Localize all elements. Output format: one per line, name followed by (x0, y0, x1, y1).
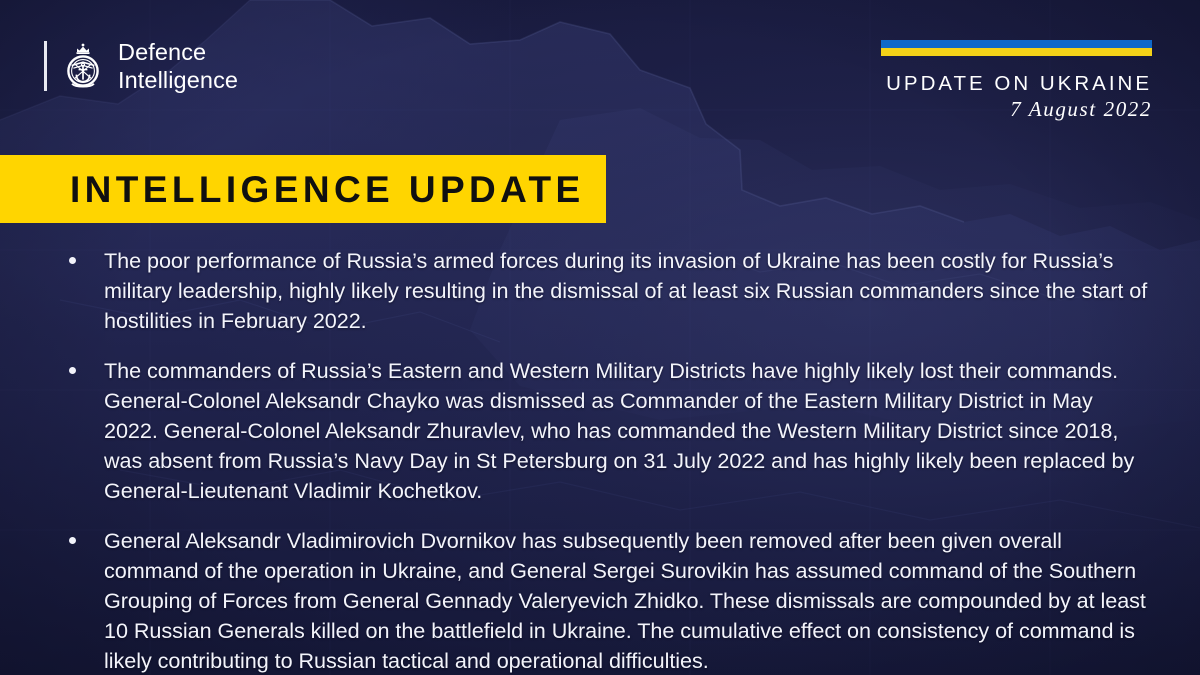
bullet-dot-icon (69, 537, 76, 544)
intelligence-update-banner: INTELLIGENCE UPDATE (0, 155, 606, 223)
ukraine-flag-bar (881, 40, 1152, 56)
bullet-text: General Aleksandr Vladimirovich Dvorniko… (104, 526, 1152, 675)
update-date: 7 August 2022 (886, 97, 1152, 121)
flag-blue-stripe (881, 40, 1152, 48)
brand-line-intelligence: Intelligence (118, 66, 238, 94)
bullet-text: The poor performance of Russia’s armed f… (104, 246, 1152, 336)
brand-line-defence: Defence (118, 38, 238, 66)
list-item: The poor performance of Russia’s armed f… (62, 246, 1152, 336)
list-item: General Aleksandr Vladimirovich Dvorniko… (62, 526, 1152, 675)
mod-defence-intelligence-crest-icon (61, 41, 105, 91)
header: Defence Intelligence UPDATE ON UKRAINE 7… (0, 0, 1200, 150)
header-title-block: UPDATE ON UKRAINE 7 August 2022 (886, 72, 1152, 121)
update-on-ukraine-label: UPDATE ON UKRAINE (886, 72, 1152, 96)
flag-yellow-stripe (881, 48, 1152, 56)
banner-title: INTELLIGENCE UPDATE (70, 171, 585, 208)
brand-text: Defence Intelligence (118, 38, 238, 94)
intelligence-update-poster: Defence Intelligence UPDATE ON UKRAINE 7… (0, 0, 1200, 675)
list-item: The commanders of Russia’s Eastern and W… (62, 356, 1152, 506)
bullet-list: The poor performance of Russia’s armed f… (62, 246, 1152, 675)
bullet-text: The commanders of Russia’s Eastern and W… (104, 356, 1152, 506)
bullet-dot-icon (69, 257, 76, 264)
brand-lockup: Defence Intelligence (44, 38, 238, 94)
bullet-dot-icon (69, 367, 76, 374)
brand-vertical-rule (44, 41, 47, 91)
